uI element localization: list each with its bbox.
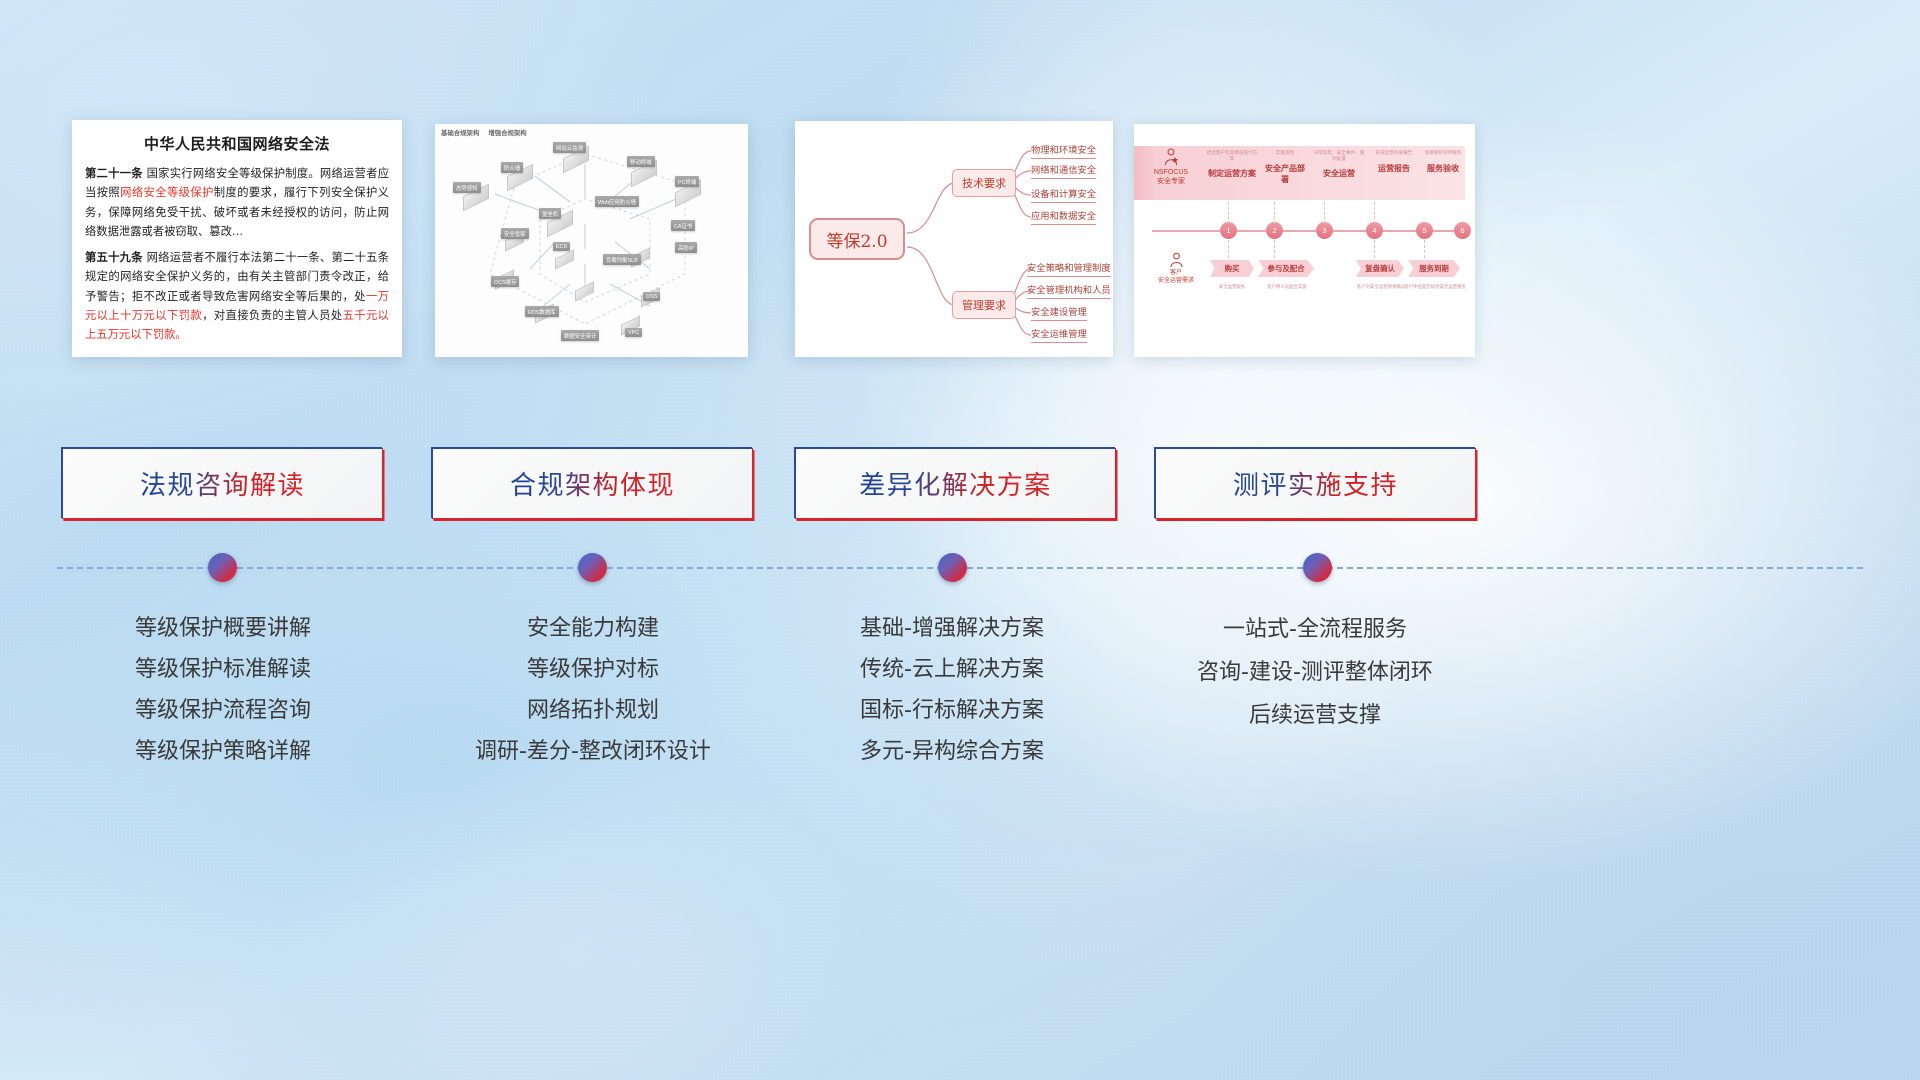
arch-node-slb: 负载均衡SLB bbox=[603, 254, 641, 265]
service-connector-8 bbox=[1424, 240, 1425, 258]
arch-node-firewall: 防火墙 bbox=[501, 162, 523, 173]
law-paragraph-21: 第二十一条 国家实行网络安全等级保护制度。网络运营者应当按照网络安全等级保护制度… bbox=[85, 164, 389, 242]
customer-tag-4-title: 服务到期 bbox=[1408, 263, 1460, 274]
headline-label-4: 测评实施支持 bbox=[1233, 465, 1398, 502]
mindmap-leaf-org-personnel: 安全管理机构和人员 bbox=[1027, 282, 1111, 299]
customer-sub-2: 客户侧人员配合实施 bbox=[1256, 282, 1318, 290]
service-step-1: 结合客户实际情况设计方案 制定运营方案 bbox=[1206, 150, 1258, 179]
mindmap-leaf-device-compute: 设备和计算安全 bbox=[1031, 186, 1096, 203]
customer-tag-4-sub: 客户评估是否续约安全运营服务 bbox=[1400, 284, 1470, 290]
mindmap-leaf-operation: 安全运维管理 bbox=[1031, 326, 1087, 343]
service-step-4-caption: 形成运营效果报告 bbox=[1370, 150, 1418, 156]
service-marker-1: 1 bbox=[1220, 222, 1237, 239]
service-step-1-caption: 结合客户实际情况设计方案 bbox=[1206, 150, 1258, 161]
arch-node-vpc: VPC bbox=[625, 328, 642, 337]
headline-box-regulatory-consulting[interactable]: 法规咨询解读 bbox=[62, 448, 383, 519]
customer-tag-1: 购买 bbox=[1210, 263, 1254, 274]
expert-name: NSFOCUS bbox=[1148, 168, 1194, 177]
feature-list-3: 基础-增强解决方案 传统-云上解决方案 国标-行标解决方案 多元-异构综合方案 bbox=[787, 608, 1117, 772]
timeline-node-4[interactable] bbox=[1303, 553, 1332, 582]
arch-node-waf: Web应用防火墙 bbox=[595, 196, 639, 207]
service-step-3-caption: 日常巡检、安全事件、漏洞处置 bbox=[1312, 150, 1366, 161]
service-marker-3: 3 bbox=[1316, 222, 1333, 239]
customer-person-icon bbox=[1169, 252, 1184, 268]
service-connector-4 bbox=[1374, 202, 1375, 224]
arch-node-mobile-terminal: 移动终端 bbox=[627, 156, 655, 167]
mindmap-leaf-physical-env: 物理和环境安全 bbox=[1031, 142, 1096, 159]
law-paragraph-59: 第五十九条 网络运营者不履行本法第二十一条、第二十五条规定的网络安全保护义务的，… bbox=[85, 248, 389, 345]
architecture-connectors bbox=[435, 124, 748, 357]
nsfocus-expert-label: NSFOCUS 安全专家 bbox=[1148, 148, 1194, 186]
customer-tag-2-title: 参与及配合 bbox=[1258, 263, 1314, 274]
headline-label-2: 合规架构体现 bbox=[510, 465, 675, 502]
arch-node-ca-cert: CA证书 bbox=[671, 220, 695, 231]
law-text-59b: ，对直接负责的主管人员处 bbox=[202, 309, 342, 322]
service-step-3: 日常巡检、安全事件、漏洞处置 安全运营 bbox=[1312, 150, 1366, 179]
service-connector-7 bbox=[1374, 240, 1375, 258]
service-marker-5: 5 bbox=[1416, 222, 1433, 239]
arch-node-situational-awareness: 态势感知 bbox=[453, 182, 481, 193]
customer-tag-4: 服务到期 bbox=[1408, 263, 1460, 274]
headline-box-differentiated-solution[interactable]: 差异化解决方案 bbox=[795, 448, 1116, 519]
list-item: 基础-增强解决方案 bbox=[787, 608, 1117, 649]
service-step-3-title: 安全运营 bbox=[1312, 168, 1366, 179]
customer-label: 客户 安全运营需求 bbox=[1150, 252, 1202, 286]
arch-node-oss: OSS bbox=[643, 292, 660, 301]
arch-node-ocs-cache: OCS缓存 bbox=[491, 276, 519, 287]
list-item: 安全能力构建 bbox=[428, 608, 758, 649]
service-step-2-title: 安全产品部署 bbox=[1262, 163, 1308, 185]
service-step-2: 实施落地 安全产品部署 bbox=[1262, 150, 1308, 185]
mindmap-leaf-app-data: 应用和数据安全 bbox=[1031, 208, 1096, 225]
mindmap-branch-management: 管理要求 bbox=[952, 291, 1016, 319]
arch-node-bastion-host: 堡垒机 bbox=[539, 208, 561, 219]
customer-tag-1-title: 购买 bbox=[1210, 263, 1254, 274]
customer-sub-4: 客户评估是否续约安全运营服务 bbox=[1400, 282, 1470, 290]
expert-role: 安全专家 bbox=[1148, 177, 1194, 186]
service-connector-1 bbox=[1228, 202, 1229, 224]
law-highlight-21: 网络安全等级保护 bbox=[120, 186, 214, 199]
service-step-2-caption: 实施落地 bbox=[1262, 150, 1308, 156]
mindmap-leaf-network-comm: 网络和通信安全 bbox=[1031, 162, 1096, 179]
headline-label-1: 法规咨询解读 bbox=[140, 465, 305, 502]
card-architecture-diagram[interactable]: 基础合规架构 增强合规架构 bbox=[435, 124, 748, 357]
headline-label-3: 差异化解决方案 bbox=[859, 465, 1052, 502]
expert-person-icon bbox=[1163, 148, 1179, 166]
list-item: 等级保护流程咨询 bbox=[58, 690, 388, 731]
law-article-number-21: 第二十一条 bbox=[85, 167, 143, 180]
customer-tag-2: 参与及配合 bbox=[1258, 263, 1314, 274]
service-marker-4: 4 bbox=[1366, 222, 1383, 239]
law-body: 中华人民共和国网络安全法 第二十一条 国家实行网络安全等级保护制度。网络运营者应… bbox=[72, 120, 402, 357]
headline-box-compliance-architecture[interactable]: 合规架构体现 bbox=[432, 448, 753, 519]
list-item: 国标-行标解决方案 bbox=[787, 690, 1117, 731]
service-step-5-caption: 等级保护测评服务 bbox=[1420, 150, 1466, 156]
customer-tag-1-sub: 安全运营服务 bbox=[1204, 284, 1260, 290]
card-mindmap[interactable]: 等保2.0 技术要求 管理要求 物理和环境安全 网络和通信安全 设备和计算安全 … bbox=[795, 121, 1113, 357]
mindmap-leaf-construction: 安全建设管理 bbox=[1031, 304, 1087, 321]
mindmap-root-node: 等保2.0 bbox=[809, 218, 905, 260]
law-article-number-59: 第五十九条 bbox=[85, 251, 143, 264]
service-step-4: 形成运营效果报告 运营报告 bbox=[1370, 150, 1418, 174]
arch-node-data-security-audit: 数据安全审计 bbox=[561, 330, 599, 341]
customer-tag-2-sub: 客户侧人员配合实施 bbox=[1256, 284, 1318, 290]
list-item: 后续运营支撑 bbox=[1150, 694, 1480, 737]
arch-node-security-manager: 安全管家 bbox=[501, 228, 529, 239]
arch-node-site-monitor: 网站云监测 bbox=[553, 142, 586, 153]
arch-node-pc-terminal: PC终端 bbox=[675, 176, 699, 187]
service-marker-6: 6 bbox=[1454, 222, 1471, 239]
list-item: 多元-异构综合方案 bbox=[787, 731, 1117, 772]
service-step-1-title: 制定运营方案 bbox=[1206, 168, 1258, 179]
headline-box-evaluation-support[interactable]: 测评实施支持 bbox=[1155, 448, 1476, 519]
service-connector-3 bbox=[1324, 202, 1325, 224]
list-item: 等级保护对标 bbox=[428, 649, 758, 690]
mindmap-leaf-policy-system: 安全策略和管理制度 bbox=[1027, 260, 1111, 277]
service-connector-2 bbox=[1274, 202, 1275, 224]
list-item: 调研-差分-整改闭环设计 bbox=[428, 731, 758, 772]
mindmap-branch-technical: 技术要求 bbox=[952, 169, 1016, 197]
feature-list-4: 一站式-全流程服务 咨询-建设-测评整体闭环 后续运营支撑 bbox=[1150, 608, 1480, 737]
timeline-node-3[interactable] bbox=[938, 553, 967, 582]
arch-node-ecs: ECS bbox=[553, 242, 570, 251]
service-connector-6 bbox=[1274, 240, 1275, 258]
list-item: 一站式-全流程服务 bbox=[1150, 608, 1480, 651]
architecture-canvas: 基础合规架构 增强合规架构 bbox=[435, 124, 748, 357]
service-step-4-title: 运营报告 bbox=[1370, 163, 1418, 174]
feature-list-2: 安全能力构建 等级保护对标 网络拓扑规划 调研-差分-整改闭环设计 bbox=[428, 608, 758, 772]
mindmap-canvas: 等保2.0 技术要求 管理要求 物理和环境安全 网络和通信安全 设备和计算安全 … bbox=[795, 121, 1113, 357]
service-timeline-canvas: NSFOCUS 安全专家 结合客户实际情况设计方案 制定运营方案 实施落地 安全… bbox=[1134, 124, 1475, 357]
arch-node-anti-ddos-ip: 高防IP bbox=[675, 242, 697, 253]
slide-stage: 中华人民共和国网络安全法 第二十一条 国家实行网络安全等级保护制度。网络运营者应… bbox=[0, 0, 1920, 1080]
customer-sub-1: 安全运营服务 bbox=[1204, 282, 1260, 290]
list-item: 咨询-建设-测评整体闭环 bbox=[1150, 651, 1480, 694]
list-item: 传统-云上解决方案 bbox=[787, 649, 1117, 690]
list-item: 等级保护标准解读 bbox=[58, 649, 388, 690]
list-item: 网络拓扑规划 bbox=[428, 690, 758, 731]
card-service-timeline[interactable]: NSFOCUS 安全专家 结合客户实际情况设计方案 制定运营方案 实施落地 安全… bbox=[1134, 124, 1475, 357]
customer-tag-3-title: 复盘确认 bbox=[1356, 263, 1404, 274]
service-connector-5 bbox=[1228, 240, 1229, 258]
law-title: 中华人民共和国网络安全法 bbox=[85, 133, 389, 154]
timeline-node-1[interactable] bbox=[208, 553, 237, 582]
card-law-document[interactable]: 中华人民共和国网络安全法 第二十一条 国家实行网络安全等级保护制度。网络运营者应… bbox=[72, 120, 402, 357]
customer-need: 安全运营需求 bbox=[1150, 278, 1202, 286]
service-step-5-title: 服务验收 bbox=[1420, 163, 1466, 174]
arch-node-rds-db: RDS数据库 bbox=[525, 306, 559, 317]
feature-list-1: 等级保护概要讲解 等级保护标准解读 等级保护流程咨询 等级保护策略详解 bbox=[58, 608, 388, 772]
service-marker-2: 2 bbox=[1266, 222, 1283, 239]
service-step-5: 等级保护测评服务 服务验收 bbox=[1420, 150, 1466, 174]
list-item: 等级保护概要讲解 bbox=[58, 608, 388, 649]
customer-name: 客户 bbox=[1150, 270, 1202, 278]
timeline-node-2[interactable] bbox=[578, 553, 607, 582]
list-item: 等级保护策略详解 bbox=[58, 731, 388, 772]
customer-tag-3: 复盘确认 bbox=[1356, 263, 1404, 274]
